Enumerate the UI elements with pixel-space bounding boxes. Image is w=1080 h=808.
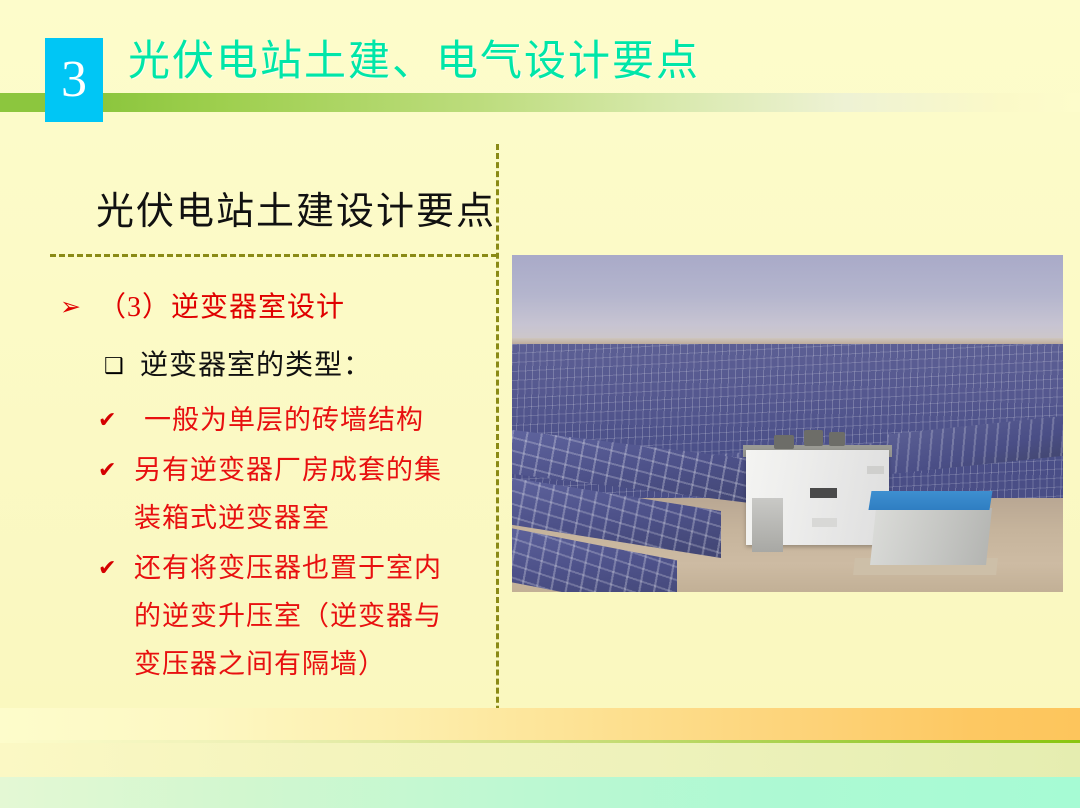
- bullet-item-level1: ➢ （3）逆变器室设计: [60, 286, 490, 330]
- bullet-item-level3: ✔ 还有将变压器也置于室内的逆变升压室（逆变器与变压器之间有隔墙）: [98, 544, 490, 688]
- photo-container-blue-roof: [869, 491, 993, 510]
- arrow-bullet-icon: ➢: [60, 286, 98, 330]
- photo-sky: [512, 255, 1063, 343]
- bullet-text: 逆变器室的类型：: [140, 344, 372, 388]
- bullet-item-level2: ❑ 逆变器室的类型：: [104, 344, 490, 388]
- bullet-text: （3）逆变器室设计: [98, 286, 345, 330]
- bullet-text: 一般为单层的砖墙结构: [134, 396, 424, 444]
- check-bullet-icon: ✔: [98, 396, 134, 444]
- slide-root: 3 光伏电站土建、电气设计要点 光伏电站土建设计要点 ➢ （3）逆变器室设计 ❑…: [0, 0, 1080, 808]
- check-bullet-icon: ✔: [98, 544, 134, 592]
- photo-container-body: [870, 508, 992, 565]
- section-heading: 光伏电站土建设计要点: [96, 186, 496, 238]
- photo-building-window-3: [867, 466, 884, 474]
- footer-orange-band: [0, 708, 1080, 741]
- heading-divider-dashed: [50, 254, 497, 257]
- photo-roof-equipment-2: [804, 430, 823, 446]
- photo-roof-equipment-1: [774, 435, 794, 448]
- solar-farm-photo: [512, 255, 1063, 592]
- header-accent-bar: [103, 93, 1080, 112]
- slide-title: 光伏电站土建、电气设计要点: [128, 34, 700, 90]
- section-number-badge: 3: [45, 38, 103, 122]
- footer-pale-band: [0, 743, 1080, 777]
- footer-mint-band: [0, 777, 1080, 808]
- bullet-item-level3: ✔ 一般为单层的砖墙结构: [98, 396, 490, 444]
- bullet-text: 还有将变压器也置于室内的逆变升压室（逆变器与变压器之间有隔墙）: [134, 544, 454, 688]
- square-bullet-icon: ❑: [104, 344, 140, 388]
- slide-header: 3 光伏电站土建、电气设计要点: [0, 0, 1080, 130]
- photo-building-door: [752, 498, 782, 552]
- bullet-list: ➢ （3）逆变器室设计 ❑ 逆变器室的类型： ✔ 一般为单层的砖墙结构 ✔ 另有…: [60, 286, 490, 690]
- photo-roof-equipment-3: [829, 432, 846, 446]
- bullet-text: 另有逆变器厂房成套的集装箱式逆变器室: [134, 446, 454, 542]
- photo-building-window-1: [810, 488, 838, 499]
- header-accent-stub: [0, 93, 48, 112]
- check-bullet-icon: ✔: [98, 446, 134, 494]
- photo-building-window-2: [812, 518, 837, 527]
- column-divider-dashed: [496, 144, 499, 748]
- bullet-item-level3: ✔ 另有逆变器厂房成套的集装箱式逆变器室: [98, 446, 490, 542]
